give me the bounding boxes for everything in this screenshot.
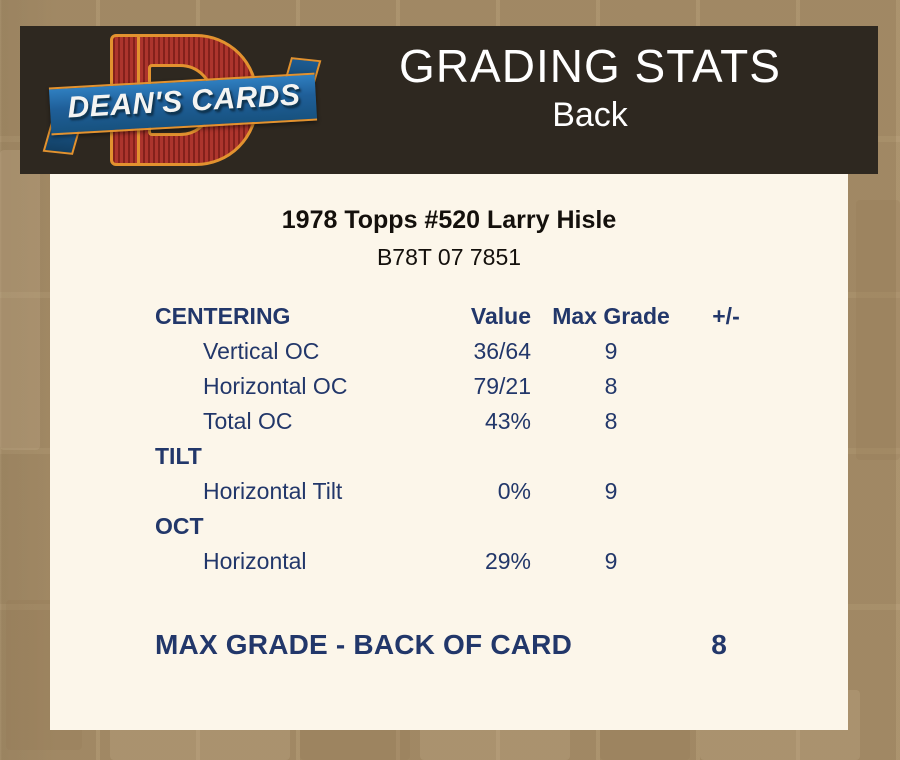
header-title-group: GRADING STATS Back [320, 42, 860, 135]
table-row: Horizontal Tilt 0% 9 [155, 478, 800, 513]
grading-stats-table: CENTERING Value Max Grade +/- Vertical O… [50, 303, 848, 583]
group-label: OCT [155, 513, 423, 540]
row-value: 79/21 [423, 373, 531, 400]
group-label: TILT [155, 443, 423, 470]
row-value: 36/64 [423, 338, 531, 365]
row-value: 43% [423, 408, 531, 435]
row-max-grade: 8 [531, 373, 691, 400]
max-grade-value: 8 [639, 629, 799, 661]
max-grade-summary: MAX GRADE - BACK OF CARD 8 [50, 629, 848, 661]
table-row: Horizontal OC 79/21 8 [155, 373, 800, 408]
row-max-grade: 8 [531, 408, 691, 435]
column-header-plus-minus: +/- [691, 303, 761, 330]
column-header-max-grade: Max Grade [531, 303, 691, 330]
table-group-row: OCT [155, 513, 800, 548]
card-code: B78T 07 7851 [50, 244, 848, 271]
row-max-grade: 9 [531, 478, 691, 505]
background-card-thumb [0, 150, 40, 450]
row-value: 0% [423, 478, 531, 505]
row-max-grade: 9 [531, 548, 691, 575]
table-row: Horizontal 29% 9 [155, 548, 800, 583]
table-header-row: CENTERING Value Max Grade +/- [155, 303, 800, 338]
row-label: Vertical OC [155, 338, 423, 365]
max-grade-label: MAX GRADE - BACK OF CARD [155, 629, 639, 661]
row-max-grade: 9 [531, 338, 691, 365]
table-row: Vertical OC 36/64 9 [155, 338, 800, 373]
row-label: Horizontal OC [155, 373, 423, 400]
page-title: GRADING STATS [320, 42, 860, 92]
card-title: 1978 Topps #520 Larry Hisle [50, 206, 848, 235]
column-header-value: Value [423, 303, 531, 330]
row-label: Horizontal Tilt [155, 478, 423, 505]
table-row: Total OC 43% 8 [155, 408, 800, 443]
background-card-thumb [856, 200, 900, 460]
page-subtitle: Back [320, 96, 860, 135]
deans-cards-logo[interactable]: DEAN'S CARDS [48, 28, 320, 172]
header-bar: DEAN'S CARDS GRADING STATS Back [20, 26, 878, 174]
column-header-section: CENTERING [155, 303, 423, 330]
content-area: 1978 Topps #520 Larry Hisle B78T 07 7851… [50, 174, 848, 730]
row-value: 29% [423, 548, 531, 575]
row-label: Horizontal [155, 548, 423, 575]
table-group-row: TILT [155, 443, 800, 478]
row-label: Total OC [155, 408, 423, 435]
